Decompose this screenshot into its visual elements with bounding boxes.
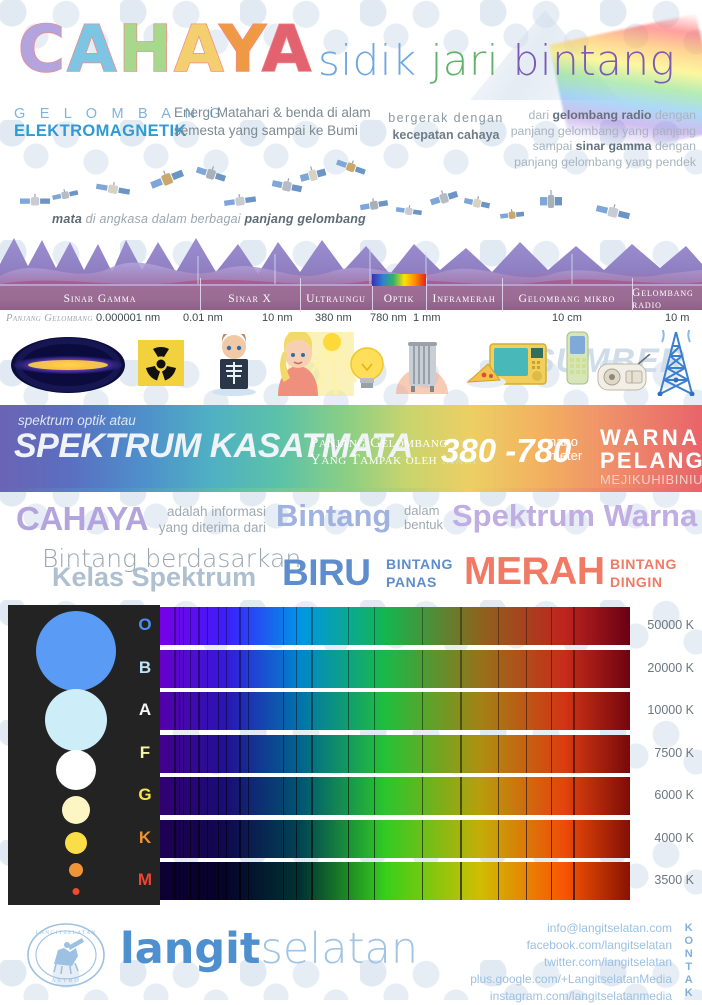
microwave-icon <box>466 342 548 390</box>
wavelength-label-row: Panjang Gelombang 0.000001 nm0.01 nm10 n… <box>0 312 702 328</box>
caption-mata-text: mata <box>52 212 82 226</box>
brand-logo[interactable]: langitselatan <box>120 928 418 971</box>
em-band-gelombang-radio[interactable]: Gelombang radio <box>632 286 702 312</box>
wavelength-value-5: 1 mm <box>413 312 441 324</box>
satellite-caption: mata di angkasa dalam berbagai panjang g… <box>52 212 366 226</box>
em-band-tick-2 <box>300 278 301 312</box>
stmt-cahaya-label: CAHAYA <box>16 500 148 538</box>
warna-label: WARNA <box>600 427 702 450</box>
stmt-bintang-dingin-label: BINTANG DINGIN <box>610 556 677 591</box>
svg-text:ASTRO: ASTRO <box>51 978 81 984</box>
absorption-lines <box>160 692 630 730</box>
kontak-letter: A <box>684 974 694 987</box>
galaxy-icon <box>10 336 126 394</box>
radiation-icon <box>138 340 184 386</box>
em-band-label: Gelombang mikro <box>519 293 616 305</box>
page-title: CAHAYA <box>18 18 313 82</box>
em-band-ultraungu[interactable]: Ultraungu <box>300 286 372 312</box>
header: CAHAYA sidik jari bintang <box>0 0 702 100</box>
kontak-letter: O <box>684 935 694 948</box>
title-letter-2: H <box>119 13 175 87</box>
subtitle: sidik jari bintang <box>318 36 675 85</box>
kontak-letter: T <box>684 961 694 974</box>
satellite-icon-12 <box>463 193 491 212</box>
mejikuhibiniu-label: MEJIKUHIBINIU <box>600 472 702 489</box>
spectrum-strip-K[interactable] <box>160 820 630 858</box>
em-band-label: Ultraungu <box>306 293 366 305</box>
spectrum-strip-B[interactable] <box>160 650 630 688</box>
temperature-label-G: 6000 K <box>654 788 694 802</box>
wavelength-title-label: Panjang Gelombang <box>6 313 93 324</box>
satellite-icon-15 <box>595 200 632 224</box>
optik-spectrum-chip <box>372 274 426 286</box>
subtitle-word-bintang: bintang <box>513 36 675 85</box>
class-label-M: M <box>128 870 162 890</box>
em-band-tick-5 <box>502 278 503 312</box>
star-disc-A <box>56 750 96 790</box>
em-band-tick-4 <box>426 278 427 312</box>
title-letter-3: A <box>174 13 219 87</box>
heater-icon <box>392 336 452 394</box>
contact-item-1[interactable]: facebook.com/langitselatan <box>470 937 672 954</box>
contact-item-0[interactable]: info@langitselatan.com <box>470 920 672 937</box>
spectrum-strip-A[interactable] <box>160 692 630 730</box>
kontak-letter: K <box>684 987 694 1000</box>
temperature-label-A: 10000 K <box>647 703 694 717</box>
satellite-icon-1 <box>51 185 79 202</box>
temperature-label-M: 3500 K <box>654 873 694 887</box>
caption-mid-text: di angkasa dalam berbagai <box>82 212 244 226</box>
class-label-F: F <box>128 743 162 763</box>
title-letter-4: Y <box>219 13 261 87</box>
kontak-vertical-label: KONTAK <box>684 922 694 1000</box>
warna-pelangi-block: WARNA PELANGI MEJIKUHIBINIU <box>600 427 702 489</box>
spectrum-rows <box>160 605 630 905</box>
star-size-panel: OBAFGKM <box>8 605 160 905</box>
class-label-B: B <box>128 658 162 678</box>
star-disc-G <box>65 832 87 854</box>
title-cahaya: CAHAYA <box>18 18 313 82</box>
spectrum-strip-F[interactable] <box>160 735 630 773</box>
intro-kecepatan-label: kecepatan cahaya <box>386 127 506 144</box>
class-label-A: A <box>128 700 162 720</box>
em-band-label: Sinar X <box>228 293 271 305</box>
absorption-lines <box>160 862 630 900</box>
satellite-icon-10 <box>395 202 422 218</box>
em-band-label: Optik <box>384 293 415 305</box>
em-band-inframerah[interactable]: Inframerah <box>426 286 502 312</box>
infographic-page: CAHAYA sidik jari bintang G E L O M B A … <box>0 0 702 1000</box>
star-class-chart: OBAFGKM 50000 K20000 K10000 K7500 K6000 … <box>8 605 694 905</box>
em-band-sinar-gamma[interactable]: Sinar Gamma <box>0 286 200 312</box>
temperature-label-K: 4000 K <box>654 831 694 845</box>
contact-list: info@langitselatan.comfacebook.com/langi… <box>470 920 672 1005</box>
star-disc-M <box>73 888 80 895</box>
spectrum-divider <box>0 488 702 492</box>
temperature-label-B: 20000 K <box>647 661 694 675</box>
em-band-sinar-x[interactable]: Sinar X <box>200 286 300 312</box>
class-label-K: K <box>128 828 162 848</box>
class-letter-column: OBAFGKM <box>128 605 162 905</box>
wavelength-value-2: 10 nm <box>262 312 293 324</box>
em-band-tick-1 <box>200 278 201 312</box>
intro-dari-text: dari <box>529 108 553 122</box>
satellite-icon-13 <box>499 207 524 221</box>
xray-icon <box>206 334 262 396</box>
absorption-lines <box>160 820 630 858</box>
sky-section: mata di angkasa dalam berbagai panjang g… <box>0 160 702 290</box>
stmt-kelas-spektrum-label: Kelas Spektrum <box>52 562 256 593</box>
em-band-optik[interactable]: Optik <box>372 286 426 312</box>
subtitle-word-jari: jari <box>431 36 513 85</box>
satellite-icon-14 <box>540 190 562 212</box>
tower-icon <box>652 330 700 396</box>
star-disc-O <box>36 611 116 691</box>
langitselatan-seal-icon: LANGITSELATAN ASTRO <box>24 922 108 988</box>
em-band-label: Sinar Gamma <box>64 293 137 305</box>
title-letter-1: A <box>67 13 119 87</box>
stmt-merah-label: MERAH <box>464 550 605 594</box>
spectrum-strip-M[interactable] <box>160 862 630 900</box>
stmt-bintang-panas-label: BINTANG PANAS <box>386 556 453 591</box>
temperature-label-F: 7500 K <box>654 746 694 760</box>
wavelength-unit-label: nano meter <box>549 435 582 462</box>
intro-col-energy: Energi Matahari & benda di alam semesta … <box>174 104 374 139</box>
wavelength-value-4: 780 nm <box>370 312 407 324</box>
temperature-column: 50000 K20000 K10000 K7500 K6000 K4000 K3… <box>634 605 694 905</box>
visible-spectrum-banner: spektrum optik atau SPEKTRUM KASATMATA P… <box>0 405 702 488</box>
brand-selatan-text: selatan <box>260 924 418 974</box>
star-disc-F <box>62 796 90 824</box>
wavelength-value-6: 10 cm <box>552 312 582 324</box>
statement-block: CAHAYA adalah informasi yang diterima da… <box>0 494 702 600</box>
contact-item-4[interactable]: instagram.com/langitselatanmedia <box>470 988 672 1005</box>
kontak-letter: N <box>684 948 694 961</box>
wavelength-value-1: 0.01 nm <box>183 312 223 324</box>
absorption-lines <box>160 650 630 688</box>
intro-col-speed: bergerak dengan kecepatan cahaya <box>386 110 506 144</box>
satellite-icon-0 <box>20 194 50 208</box>
satellite-icon-6 <box>271 175 304 197</box>
caption-panjang-gelombang-text: panjang gelombang <box>244 212 365 226</box>
absorption-lines <box>160 607 630 645</box>
wavelength-value-7: 10 m <box>665 312 689 324</box>
em-band-tick-6 <box>632 278 633 312</box>
class-label-G: G <box>128 785 162 805</box>
kontak-letter: K <box>684 922 694 935</box>
title-letter-5: A <box>262 13 314 87</box>
em-spectrum-bar: Sinar GammaSinar XUltraunguOptikInframer… <box>0 284 702 310</box>
footer: LANGITSELATAN ASTRO langitselatan info@l… <box>0 908 702 1000</box>
sources-row: SUMBER <box>0 330 702 402</box>
satellite-icon-4 <box>194 162 227 186</box>
intro-bergerak-label: bergerak dengan <box>386 110 506 127</box>
brand-langit-text: langit <box>120 924 260 974</box>
wavelength-value-3: 380 nm <box>315 312 352 324</box>
phone-icon <box>560 330 594 390</box>
temperature-label-O: 50000 K <box>647 618 694 632</box>
bulb-icon <box>346 344 388 392</box>
satellite-icon-3 <box>148 164 186 193</box>
subtitle-word-sidik: sidik <box>318 36 431 85</box>
absorption-lines <box>160 735 630 773</box>
stmt-bintang-label: Bintang <box>276 498 391 534</box>
em-band-label: Gelombang radio <box>632 287 702 311</box>
title-letter-0: C <box>18 13 67 87</box>
em-band-gelombang-mikro[interactable]: Gelombang mikro <box>502 286 632 312</box>
contact-item-2[interactable]: twitter.com/langitselatan <box>470 954 672 971</box>
satellite-icon-5 <box>223 192 257 210</box>
satellite-icon-7 <box>298 163 328 187</box>
spectrum-strip-O[interactable] <box>160 607 630 645</box>
radio-icon <box>596 354 654 392</box>
star-disc-K <box>69 863 83 877</box>
satellite-icon-2 <box>95 179 131 199</box>
contact-item-3[interactable]: plus.google.com/+LangitselatanMedia <box>470 971 672 988</box>
spectrum-strip-G[interactable] <box>160 777 630 815</box>
em-band-label: Inframerah <box>432 293 495 305</box>
stmt-adalah-informasi-label: adalah informasi yang diterima dari <box>158 504 266 535</box>
svg-text:LANGITSELATAN: LANGITSELATAN <box>35 930 96 936</box>
stmt-spektrum-warna-label: Spektrum Warna <box>452 498 697 534</box>
absorption-lines <box>160 777 630 815</box>
class-label-O: O <box>128 615 162 635</box>
intro-gelombang-radio-text: gelombang radio <box>552 108 651 122</box>
intro-sinar-gamma-text: sinar gamma <box>576 139 652 153</box>
satellite-icon-11 <box>428 186 460 210</box>
star-disc-B <box>45 689 107 751</box>
intro-block: G E L O M B A N G ELEKTROMAGNETIK Energi… <box>0 102 702 164</box>
pelangi-label: PELANGI <box>600 450 702 473</box>
stmt-dalam-bentuk-label: dalam bentuk <box>404 504 443 533</box>
spektrum-optik-label: spektrum optik atau <box>18 413 136 428</box>
stmt-biru-label: BIRU <box>282 552 370 594</box>
wavelength-value-0: 0.000001 nm <box>96 312 160 324</box>
